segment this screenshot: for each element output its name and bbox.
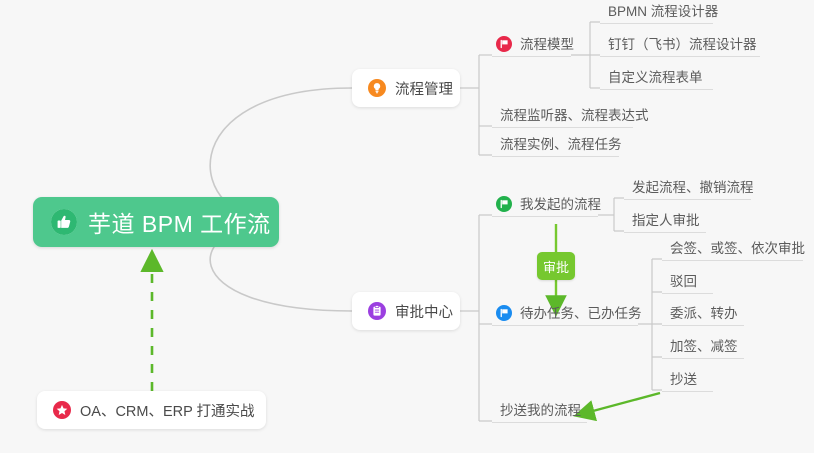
wire-cc-to-cc-flows xyxy=(578,393,660,415)
node-integration-note-label: OA、CRM、ERP 打通实战 xyxy=(80,400,255,421)
leaf-cc-label: 抄送 xyxy=(670,373,697,387)
node-flow-management-label: 流程管理 xyxy=(395,78,453,99)
leaf-flows-cc-to-me-label: 抄送我的流程 xyxy=(500,404,581,418)
leaf-custom-flow-form[interactable]: 自定义流程表单 xyxy=(600,64,713,90)
leaf-add-remove-signer-label: 加签、减签 xyxy=(670,340,738,354)
leaf-flow-model-label: 流程模型 xyxy=(520,38,574,52)
leaf-my-initiated-flows[interactable]: 我发起的流程 xyxy=(492,191,598,217)
star-icon xyxy=(53,401,71,419)
leaf-custom-flow-form-label: 自定义流程表单 xyxy=(608,71,703,85)
leaf-delegate-transfer[interactable]: 委派、转办 xyxy=(662,300,744,326)
thumbs-up-icon xyxy=(51,209,77,235)
flag-icon xyxy=(496,305,512,321)
leaf-dingtalk-feishu-designer[interactable]: 钉钉（飞书）流程设计器 xyxy=(600,31,760,57)
leaf-bpmn-designer-label: BPMN 流程设计器 xyxy=(608,5,718,19)
clipboard-icon xyxy=(368,302,386,320)
leaf-countersign-or-sequential-label: 会签、或签、依次审批 xyxy=(670,242,805,256)
leaf-countersign-or-sequential[interactable]: 会签、或签、依次审批 xyxy=(662,235,803,261)
leaf-flow-model[interactable]: 流程模型 xyxy=(492,31,571,57)
leaf-reject[interactable]: 驳回 xyxy=(662,268,713,294)
leaf-flow-listener-expression-label: 流程监听器、流程表达式 xyxy=(500,109,649,123)
leaf-flow-listener-expression[interactable]: 流程监听器、流程表达式 xyxy=(492,102,633,128)
leaf-dingtalk-feishu-designer-label: 钉钉（飞书）流程设计器 xyxy=(608,38,757,52)
leaf-flow-instance-task-label: 流程实例、流程任务 xyxy=(500,138,622,152)
leaf-add-remove-signer[interactable]: 加签、减签 xyxy=(662,333,744,359)
node-approval-center[interactable]: 审批中心 xyxy=(352,292,460,330)
leaf-todo-done-tasks[interactable]: 待办任务、已办任务 xyxy=(492,300,638,326)
flag-icon xyxy=(496,36,512,52)
leaf-start-cancel-flow-label: 发起流程、撤销流程 xyxy=(632,181,754,195)
leaf-reject-label: 驳回 xyxy=(670,275,697,289)
node-approval-center-label: 审批中心 xyxy=(395,301,453,322)
leaf-assignee-approval[interactable]: 指定人审批 xyxy=(624,207,706,233)
root-node-label: 芋道 BPM 工作流 xyxy=(88,205,271,239)
leaf-bpmn-designer[interactable]: BPMN 流程设计器 xyxy=(600,0,713,24)
flag-icon xyxy=(496,196,512,212)
tag-approve[interactable]: 审批 xyxy=(537,252,575,280)
leaf-todo-done-tasks-label: 待办任务、已办任务 xyxy=(520,307,642,321)
leaf-flows-cc-to-me[interactable]: 抄送我的流程 xyxy=(492,397,587,423)
leaf-cc[interactable]: 抄送 xyxy=(662,366,713,392)
tag-approve-label: 审批 xyxy=(543,257,569,276)
leaf-assignee-approval-label: 指定人审批 xyxy=(632,214,700,228)
mindmap-canvas: 芋道 BPM 工作流 流程管理 审批中心 xyxy=(0,0,814,453)
leaf-flow-instance-task[interactable]: 流程实例、流程任务 xyxy=(492,131,619,157)
leaf-my-initiated-flows-label: 我发起的流程 xyxy=(520,198,601,212)
root-node[interactable]: 芋道 BPM 工作流 xyxy=(33,197,279,247)
node-flow-management[interactable]: 流程管理 xyxy=(352,69,460,107)
node-integration-note[interactable]: OA、CRM、ERP 打通实战 xyxy=(37,391,266,429)
lightbulb-pin-icon xyxy=(368,79,386,97)
leaf-start-cancel-flow[interactable]: 发起流程、撤销流程 xyxy=(624,174,751,200)
leaf-delegate-transfer-label: 委派、转办 xyxy=(670,307,738,321)
